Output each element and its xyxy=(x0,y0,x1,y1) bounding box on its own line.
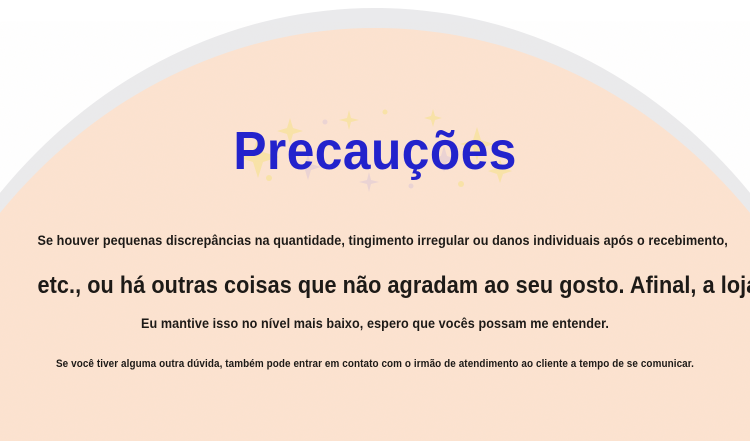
title-block: Precauções xyxy=(0,112,750,190)
precaution-text-line-4: Se você tiver alguma outra dúvida, també… xyxy=(38,358,713,370)
page-title: Precauções xyxy=(233,124,517,178)
precaution-text-line-2: etc., ou há outras coisas que não agrada… xyxy=(38,272,713,300)
precautions-banner: Precauções Se houver pequenas discrepânc… xyxy=(0,0,750,441)
precaution-text-line-1: Se houver pequenas discrepâncias na quan… xyxy=(38,232,713,248)
precaution-text-line-3: Eu mantive isso no nível mais baixo, esp… xyxy=(38,315,713,331)
